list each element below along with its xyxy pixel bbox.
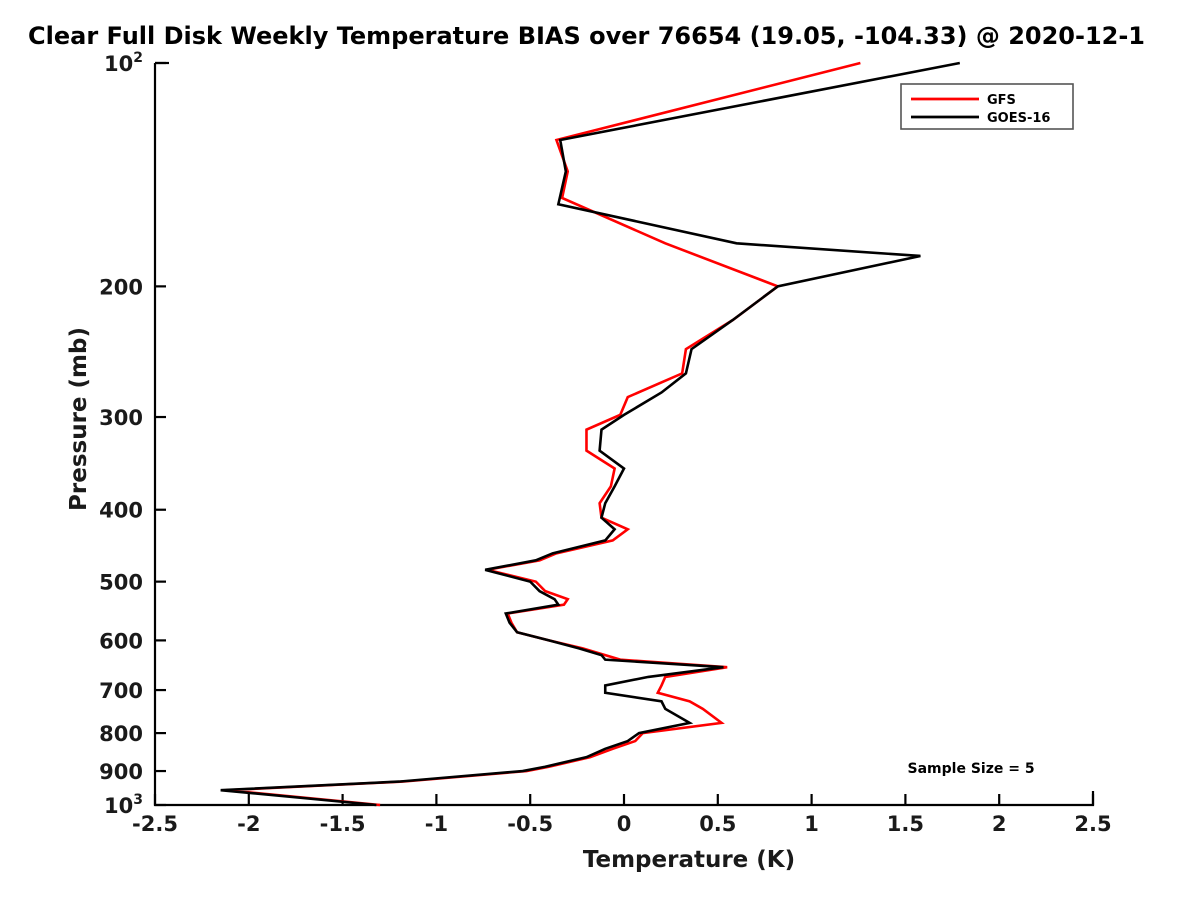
x-tick-label: 1 xyxy=(804,812,819,836)
x-tick-label: -1 xyxy=(425,812,448,836)
y-axis-title: Pressure (mb) xyxy=(66,327,92,511)
x-axis-title: Temperature (K) xyxy=(583,847,795,873)
y-tick-label: 400 xyxy=(99,499,143,523)
y-tick-label: 700 xyxy=(99,679,143,703)
y-tick-label: 600 xyxy=(99,629,143,653)
x-tick-label: 0.5 xyxy=(699,812,736,836)
temperature-bias-profile-chart: -2.5-2-1.5-1-0.500.511.522.5102200300400… xyxy=(0,0,1200,900)
x-tick-label: 2.5 xyxy=(1074,812,1111,836)
x-tick-label: -1.5 xyxy=(320,812,366,836)
x-tick-label: 1.5 xyxy=(887,812,924,836)
y-tick-label: 300 xyxy=(99,406,143,430)
y-tick-label: 500 xyxy=(99,571,143,595)
x-tick-label: -2 xyxy=(237,812,260,836)
legend-label-gfs: GFS xyxy=(987,93,1016,108)
y-tick-label: 102 xyxy=(104,50,143,76)
y-tick-label: 800 xyxy=(99,722,143,746)
legend-label-goes-16: GOES-16 xyxy=(987,111,1050,126)
figure-canvas: -2.5-2-1.5-1-0.500.511.522.5102200300400… xyxy=(0,0,1200,900)
plot-axes-frame xyxy=(155,63,1093,805)
x-tick-label: 2 xyxy=(992,812,1007,836)
y-tick-label: 900 xyxy=(99,760,143,784)
series-line-gfs xyxy=(226,63,860,805)
y-tick-label: 200 xyxy=(99,275,143,299)
sample-size: Sample Size = 5 xyxy=(908,761,1035,777)
x-tick-label: -0.5 xyxy=(507,812,553,836)
legend: GFSGOES-16 xyxy=(901,84,1073,129)
x-tick-label: 0 xyxy=(617,812,632,836)
figure-title: Clear Full Disk Weekly Temperature BIAS … xyxy=(28,22,1145,50)
series-line-goes-16 xyxy=(221,63,960,805)
x-tick-label: -2.5 xyxy=(132,812,178,836)
